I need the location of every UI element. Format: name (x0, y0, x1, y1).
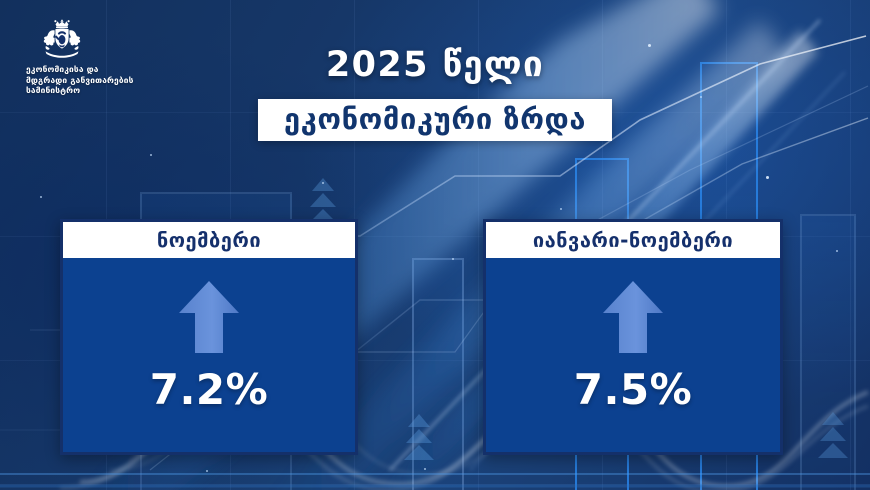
title-subject: ეკონომიკური ზრდა (284, 104, 586, 134)
chevron-arrow-motif-3 (818, 412, 848, 460)
chevron-arrow-motif-2 (404, 414, 434, 462)
card-header-january-november: იანვარი-ნოემბერი (486, 222, 780, 258)
title-subject-banner: ეკონომიკური ზრდა (258, 99, 612, 141)
up-arrow-icon (177, 279, 241, 355)
metric-card-january-november: იანვარი-ნოემბერი 7.5% (483, 219, 783, 455)
card-period-label: იანვარი-ნოემბერი (533, 230, 733, 250)
card-header-november: ნოემბერი (63, 222, 355, 258)
title-year: 2025 წელი (0, 45, 870, 85)
card-value: 7.5% (574, 369, 692, 411)
card-period-label: ნოემბერი (157, 230, 261, 250)
metric-card-november: ნოემბერი 7.2% (60, 219, 358, 455)
up-arrow-icon (601, 279, 665, 355)
card-body-november: 7.2% (63, 258, 355, 452)
infographic-canvas: ეკონომიკისა და მდგრადი განვითარების სამი… (0, 0, 870, 490)
card-body-january-november: 7.5% (486, 258, 780, 452)
card-value: 7.2% (150, 369, 268, 411)
